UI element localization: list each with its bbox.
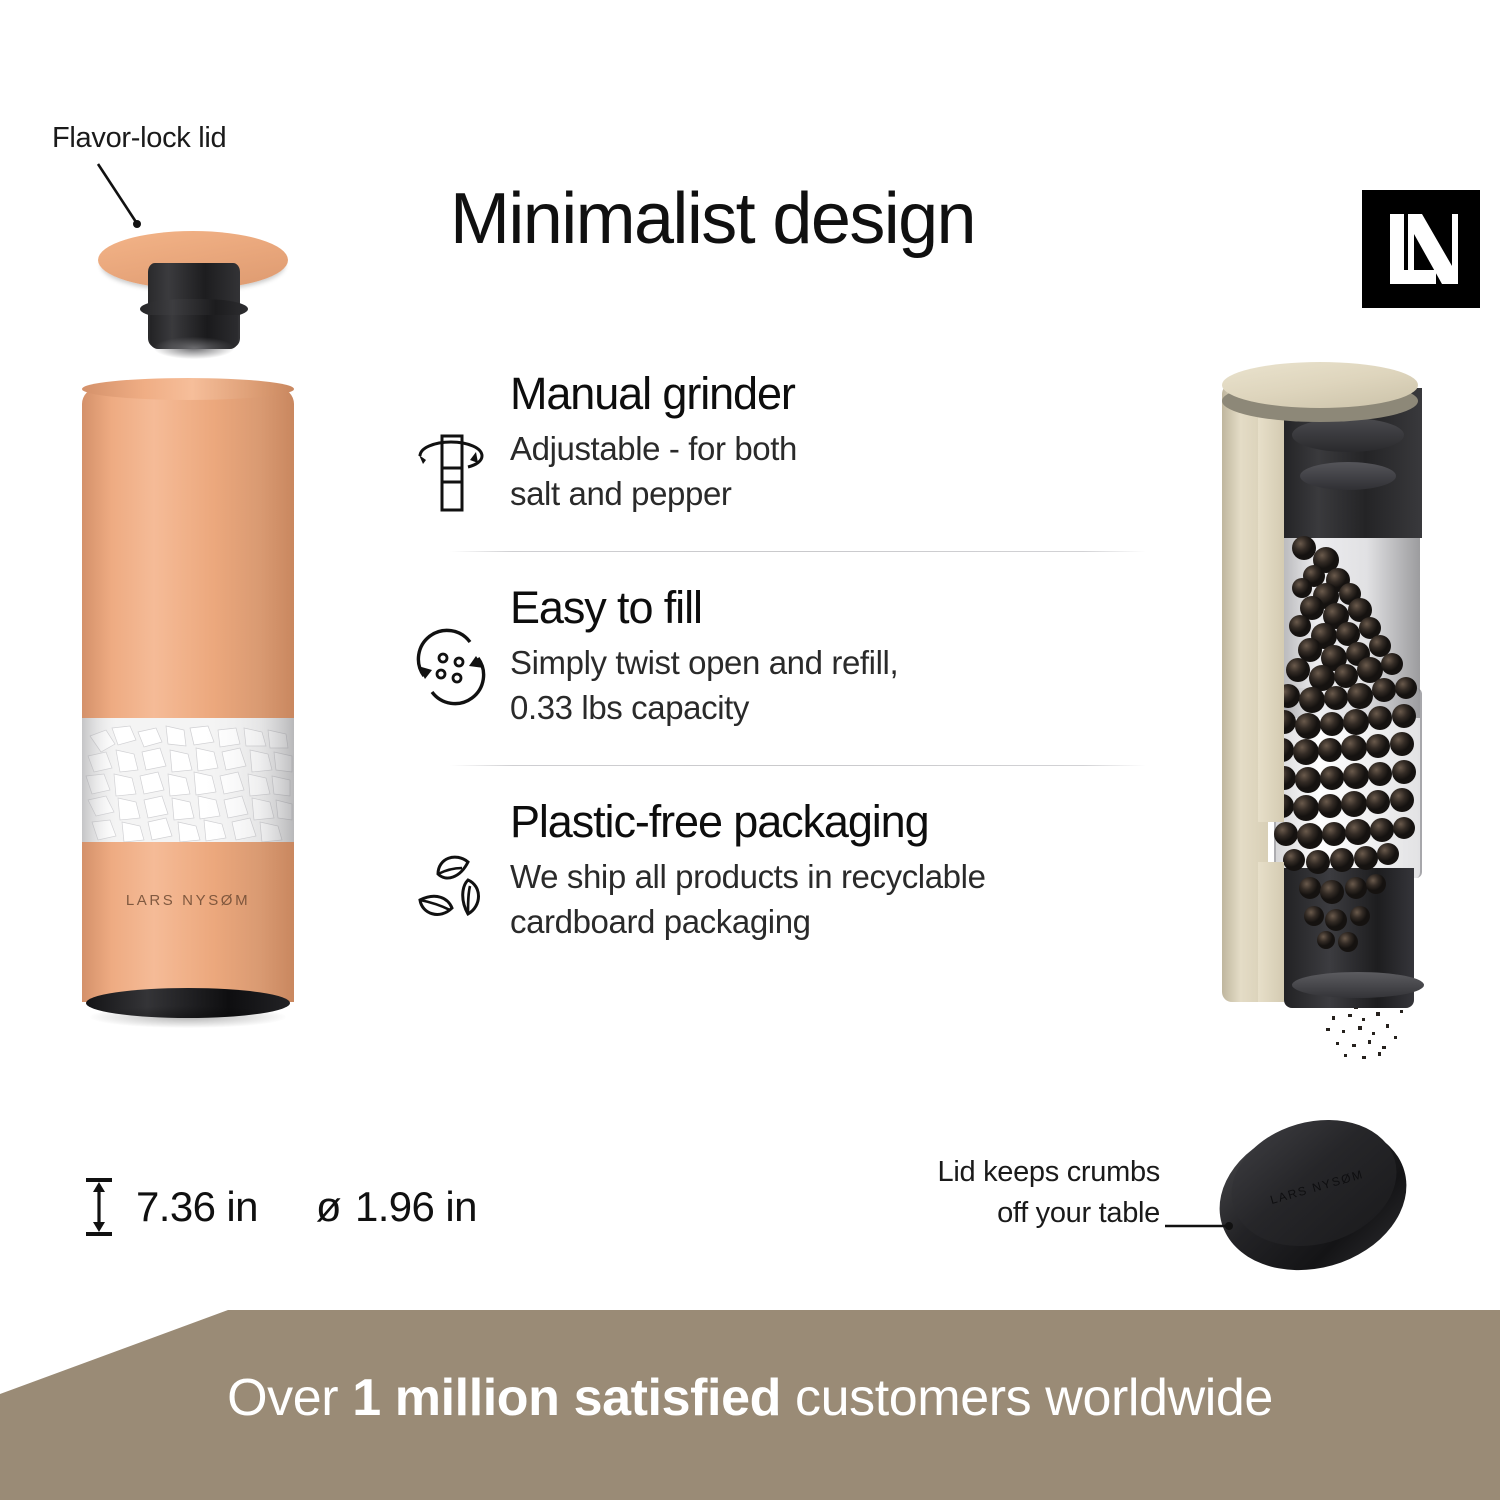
grinder-drop-shadow (90, 1006, 286, 1028)
feature-desc-line: We ship all products in recyclable (510, 855, 1152, 900)
infographic-root: Minimalist design Flavor-lock lid (0, 0, 1500, 1500)
callout-line-2: off your table (860, 1193, 1160, 1234)
feature-desc-line: Simply twist open and refill, (510, 641, 1152, 686)
banner-prefix: Over (227, 1369, 352, 1427)
pepper-base-plate (1292, 972, 1424, 998)
callout-lid-crumbs: Lid keeps crumbs off your table (860, 1152, 1160, 1234)
feature-easy-to-fill: Easy to fill Simply twist open and refil… (392, 582, 1152, 731)
feature-list: Manual grinder Adjustable - for both sal… (392, 368, 1152, 945)
salt-grinder-body: LARS NYSØM (82, 388, 294, 1020)
pepper-interior (1274, 388, 1422, 1008)
salt-grinder-lid (98, 215, 288, 360)
feature-divider (450, 765, 1146, 766)
feature-desc-line: salt and pepper (510, 472, 1152, 517)
salt-crystals (82, 718, 294, 842)
storage-lid: LARS NYSØM (1218, 1118, 1408, 1278)
dimension-diameter: ø 1.96 in (316, 1183, 477, 1231)
feature-divider (450, 551, 1146, 552)
grinder-lower-body (82, 842, 294, 1002)
banner-text: Over 1 million satisfied customers world… (0, 1368, 1500, 1428)
callout-leader-line-right (1165, 1216, 1245, 1236)
pepper-shell-front-lower (1258, 862, 1284, 1002)
brand-logo (1362, 190, 1480, 308)
pepper-grinder-cutaway (1196, 362, 1446, 1052)
feature-manual-grinder: Manual grinder Adjustable - for both sal… (392, 368, 1152, 517)
pepper-shell-front-upper (1258, 390, 1284, 822)
feature-title: Manual grinder (510, 370, 1152, 417)
refill-rotate-icon (392, 582, 510, 706)
banner-emphasis: 1 million satisfied (352, 1369, 781, 1427)
recycle-leaves-icon (392, 796, 510, 930)
page-title: Minimalist design (450, 178, 975, 260)
feature-title: Plastic-free packaging (510, 798, 1152, 845)
height-arrow-icon (84, 1176, 114, 1238)
feature-desc-line: 0.33 lbs capacity (510, 686, 1152, 731)
feature-desc-line: cardboard packaging (510, 900, 1152, 945)
lid-neck-shadow (154, 337, 234, 359)
banner-suffix: customers worldwide (781, 1369, 1273, 1427)
callout-flavor-lock-label: Flavor-lock lid (52, 122, 226, 155)
diameter-value: 1.96 in (355, 1183, 477, 1231)
salt-view-window (82, 718, 294, 842)
callout-line-1: Lid keeps crumbs (860, 1152, 1160, 1193)
feature-title: Easy to fill (510, 584, 1152, 631)
ln-monogram-icon (1384, 210, 1458, 288)
diameter-symbol-icon: ø (316, 1183, 341, 1231)
pepper-cap-top (1222, 362, 1418, 408)
dimension-height: 7.36 in (84, 1176, 258, 1238)
dimensions-row: 7.36 in ø 1.96 in (84, 1176, 477, 1238)
height-value: 7.36 in (136, 1183, 258, 1231)
grinder-rotate-icon (392, 368, 510, 516)
peppercorns (1274, 388, 1422, 1008)
feature-desc-line: Adjustable - for both (510, 427, 1152, 472)
feature-plastic-free: Plastic-free packaging We ship all produ… (392, 796, 1152, 945)
grinder-upper-body (82, 388, 294, 718)
body-brand-text: LARS NYSØM (82, 892, 294, 909)
